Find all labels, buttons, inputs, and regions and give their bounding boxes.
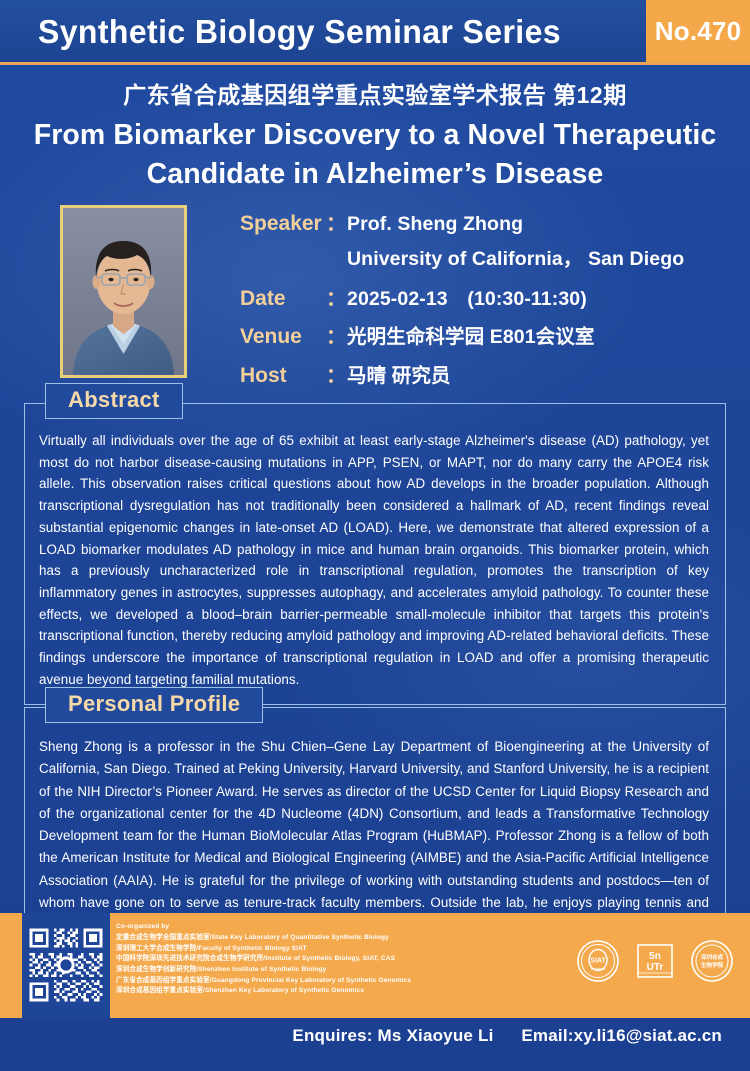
speaker-affiliation: University of California， San Diego [347, 245, 684, 273]
host-row: Host ： 马晴 研究员 [240, 359, 740, 391]
seminar-title: From Biomarker Discovery to a Novel Ther… [22, 116, 728, 195]
organizer-line: 中国科学院深圳先进技术研究院合成生物学研究所/Institute of Synt… [116, 954, 546, 965]
header-divider-rule [0, 62, 750, 65]
organizer-line: 深圳合成生物学创新研究院/Shenzhen Institute of Synth… [116, 965, 546, 976]
venue-value: 光明生命科学园 E801会议室 [347, 323, 594, 351]
host-colon: ： [325, 359, 347, 388]
abstract-text: Virtually all individuals over the age o… [25, 404, 725, 704]
svg-text:生物学院: 生物学院 [701, 961, 724, 969]
svg-text:UTr: UTr [647, 962, 664, 973]
speaker-label: Speaker [240, 209, 325, 239]
sautd-logo-icon: 5n UTr [633, 939, 677, 983]
siat-logo-icon: SIAT [576, 939, 620, 983]
qr-code[interactable] [27, 925, 105, 1005]
date-row: Date ： 2025-02-13 (10:30-11:30) [240, 282, 740, 314]
contact-enquires: Enquires: Ms Xiaoyue Li [292, 1026, 493, 1045]
speaker-row: Speaker ： Prof. Sheng Zhong [240, 207, 740, 239]
speaker-colon: ： [325, 207, 347, 236]
date-value: 2025-02-13 (10:30-11:30) [347, 285, 587, 313]
venue-label: Venue [240, 322, 325, 352]
poster-header: Synthetic Biology Seminar Series No.470 [0, 0, 750, 62]
profile-heading-tab: Personal Profile [45, 687, 263, 723]
speaker-name: Prof. Sheng Zhong [347, 210, 523, 238]
poster-footer: Co-organized by 定量合成生物学全国重点实验室/State Key… [0, 913, 750, 1018]
svg-text:5n: 5n [649, 951, 661, 962]
organizer-line: 深圳理工大学合成生物学院/Faculty of Synthetic Biolog… [116, 944, 546, 955]
co-organized-label: Co-organized by [116, 922, 546, 932]
series-title: Synthetic Biology Seminar Series [38, 15, 561, 48]
contact-line: Enquires: Ms Xiaoyue Li Email:xy.li16@si… [0, 1026, 750, 1046]
host-value: 马晴 研究员 [347, 362, 451, 390]
abstract-section: Abstract Virtually all individuals over … [24, 403, 726, 705]
organizer-line: 定量合成生物学全国重点实验室/State Key Laboratory of Q… [116, 933, 546, 944]
date-label: Date [240, 284, 325, 314]
organization-logos: SIAT 5n UTr 深圳合成 生物学院 [576, 939, 734, 983]
seminar-poster: Synthetic Biology Seminar Series No.470 … [0, 0, 750, 1071]
venue-colon: ： [325, 320, 347, 349]
issue-number-badge: No.470 [646, 0, 750, 62]
qr-code-icon [27, 925, 105, 1005]
isynbio-logo-icon: 深圳合成 生物学院 [690, 939, 734, 983]
organizer-line: 深圳合成基因组学重点实验室/Shenzhen Key Laboratory of… [116, 986, 546, 997]
organizer-line: 广东省合成基因组学重点实验室/Guangdong Provincial Key … [116, 976, 546, 987]
co-organizers: Co-organized by 定量合成生物学全国重点实验室/State Key… [116, 922, 546, 997]
venue-row: Venue ： 光明生命科学园 E801会议室 [240, 320, 740, 352]
svg-text:SIAT: SIAT [590, 958, 606, 965]
abstract-heading-tab: Abstract [45, 383, 183, 419]
speaker-portrait [60, 205, 187, 378]
portrait-illustration [63, 208, 184, 375]
abstract-heading: Abstract [68, 387, 160, 412]
speaker-affiliation-row: University of California， San Diego [240, 245, 740, 273]
profile-heading: Personal Profile [68, 691, 240, 716]
host-label: Host [240, 361, 325, 391]
date-colon: ： [325, 282, 347, 311]
contact-email[interactable]: Email:xy.li16@siat.ac.cn [521, 1026, 722, 1045]
series-title-container: Synthetic Biology Seminar Series [0, 0, 646, 62]
svg-text:深圳合成: 深圳合成 [701, 953, 724, 961]
chinese-subtitle: 广东省合成基因组学重点实验室学术报告 第12期 [0, 76, 750, 110]
seminar-title-line1: From Biomarker Discovery to a Novel Ther… [22, 116, 728, 155]
seminar-details: Speaker ： Prof. Sheng Zhong University o… [240, 207, 740, 397]
seminar-title-line2: Candidate in Alzheimer’s Disease [22, 155, 728, 194]
